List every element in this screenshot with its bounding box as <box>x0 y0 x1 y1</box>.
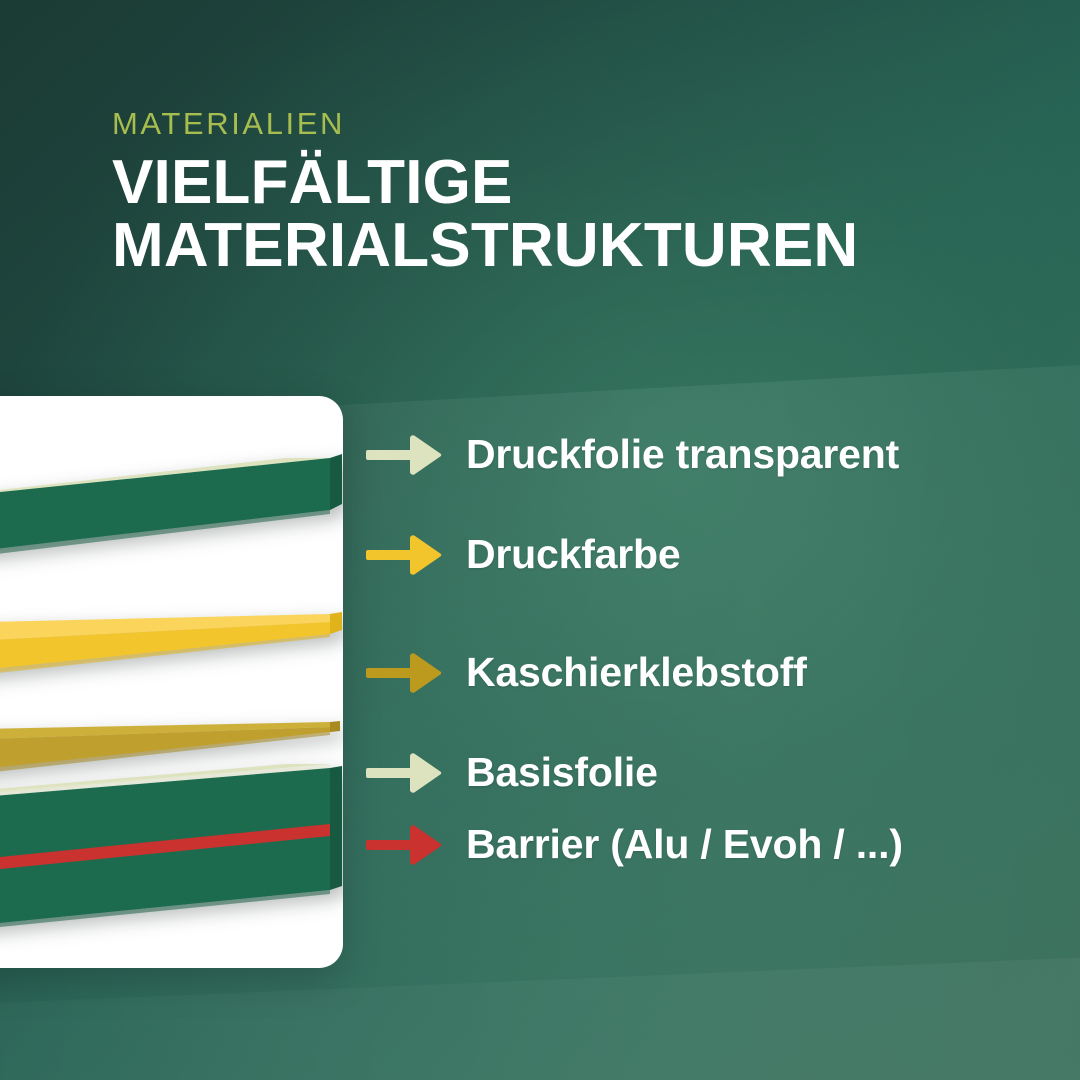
legend-item-druckfarbe[interactable]: Druckfarbe <box>366 534 680 575</box>
arrow-right-icon <box>366 653 444 693</box>
legend-item-basisfolie[interactable]: Basisfolie <box>366 752 658 793</box>
legend-item-druckfolie-transparent[interactable]: Druckfolie transparent <box>366 434 899 475</box>
legend-item-kaschierklebstoff[interactable]: Kaschierklebstoff <box>366 652 807 693</box>
legend-item-label: Druckfolie transparent <box>466 434 899 475</box>
arrow-right-icon <box>366 535 444 575</box>
background-diagonal-band-lower <box>0 949 1080 1080</box>
legend-item-label: Barrier (Alu / Evoh / ...) <box>466 824 903 865</box>
legend-item-label: Kaschierklebstoff <box>466 652 807 693</box>
page-title-line-1: VIELFÄLTIGE <box>112 148 513 217</box>
layer-graphic-card <box>0 396 343 968</box>
legend-item-label: Druckfarbe <box>466 534 680 575</box>
page-title-line-2: MATERIALSTRUKTUREN <box>112 214 972 277</box>
page-title: VIELFÄLTIGE MATERIALSTRUKTUREN <box>112 151 972 277</box>
arrow-right-icon <box>366 435 444 475</box>
laminate-layer-stack <box>0 396 343 968</box>
arrow-right-icon <box>366 825 444 865</box>
legend-item-barrier[interactable]: Barrier (Alu / Evoh / ...) <box>366 824 903 865</box>
arrow-right-icon <box>366 753 444 793</box>
poster-canvas: MATERIALIEN VIELFÄLTIGE MATERIALSTRUKTUR… <box>0 0 1080 1080</box>
eyebrow-label: MATERIALIEN <box>112 108 972 139</box>
legend-item-label: Basisfolie <box>466 752 658 793</box>
basisfolie-barrier-layer <box>0 762 343 968</box>
header-block: MATERIALIEN VIELFÄLTIGE MATERIALSTRUKTUR… <box>112 108 972 277</box>
